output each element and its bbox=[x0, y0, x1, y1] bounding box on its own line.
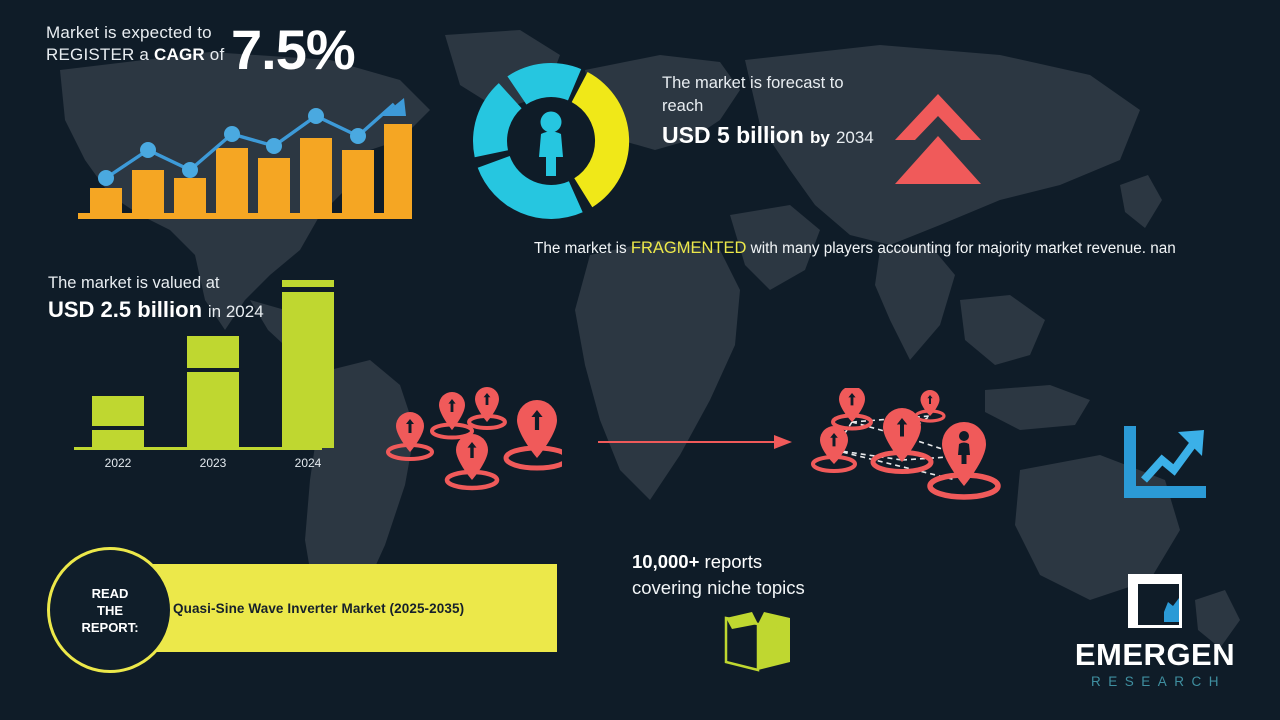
bar-2022 bbox=[92, 396, 144, 448]
brand-logo: EMERGEN RESEARCH bbox=[1060, 572, 1250, 691]
bar-2024 bbox=[282, 280, 334, 448]
forecast-by-label: by bbox=[810, 128, 830, 147]
logo-name: EMERGEN bbox=[1060, 637, 1250, 673]
bar-label-2024: 2024 bbox=[278, 456, 338, 470]
bar-label-2022: 2022 bbox=[88, 456, 148, 470]
read-report-line2: THE bbox=[97, 602, 123, 619]
fragmented-text: The market is FRAGMENTED with many playe… bbox=[534, 237, 1206, 260]
cagr-lead-line2-a: REGISTER a bbox=[46, 45, 154, 64]
cagr-value: 7.5% bbox=[231, 19, 355, 81]
person-icon bbox=[539, 112, 563, 177]
report-title: Quasi-Sine Wave Inverter Market (2025-20… bbox=[173, 601, 464, 616]
reports-count-suffix: reports bbox=[699, 551, 762, 572]
forecast-amount: USD 5 billion bbox=[662, 122, 804, 148]
cagr-keyword: CAGR bbox=[154, 45, 205, 64]
bar-label-2023: 2023 bbox=[183, 456, 243, 470]
fragmented-block: The market is FRAGMENTED with many playe… bbox=[534, 237, 1206, 260]
bar-2023 bbox=[187, 336, 239, 448]
donut-segment-4 bbox=[507, 63, 581, 104]
forecast-lead-line1: The market is forecast to bbox=[662, 74, 844, 92]
fragmented-prefix: The market is bbox=[534, 240, 631, 257]
logo-subtitle: RESEARCH bbox=[1060, 673, 1250, 691]
donut-segment-1 bbox=[572, 72, 629, 207]
reports-count-line2: covering niche topics bbox=[632, 575, 932, 601]
market-share-donut bbox=[462, 52, 640, 230]
line-chart-growth-icon bbox=[1118, 424, 1210, 504]
logo-mark-icon bbox=[1124, 572, 1186, 634]
reports-count-number: 10,000+ bbox=[632, 551, 699, 572]
read-report-line3: REPORT: bbox=[81, 619, 138, 636]
cagr-block: Market is expected to REGISTER a CAGR of… bbox=[46, 22, 466, 66]
forecast-lead-line2: reach bbox=[662, 97, 703, 115]
cagr-lead-text: Market is expected to REGISTER a CAGR of bbox=[46, 22, 236, 66]
bar-split-2024 bbox=[282, 287, 334, 292]
fragmented-highlight: FRAGMENTED bbox=[631, 239, 747, 257]
bar-split-2022 bbox=[92, 426, 144, 430]
bar-split-2023 bbox=[187, 368, 239, 372]
reports-count-block: 10,000+ reports covering niche topics bbox=[632, 549, 932, 601]
right-arrow-icon bbox=[596, 431, 796, 453]
read-report-line1: READ bbox=[92, 585, 129, 602]
cagr-lead-line1: Market is expected to bbox=[46, 23, 212, 42]
double-up-arrow-icon bbox=[893, 92, 983, 192]
open-book-icon bbox=[722, 610, 794, 672]
connected-map-pin-network-icon bbox=[804, 388, 1014, 502]
map-pin-cluster-icon bbox=[382, 386, 562, 496]
infographic-canvas: Market is expected to REGISTER a CAGR of… bbox=[0, 0, 1280, 720]
forecast-year: 2034 bbox=[836, 128, 874, 147]
fragmented-suffix: with many players accounting for majorit… bbox=[746, 240, 1175, 257]
market-value-bar-chart: 2022 2023 2024 bbox=[74, 295, 334, 470]
cagr-lead-line2-c: of bbox=[205, 45, 225, 64]
donut-segment-3 bbox=[473, 83, 522, 157]
growth-bar-line-chart bbox=[72, 86, 412, 222]
reports-count-line1: 10,000+ reports bbox=[632, 549, 932, 575]
donut-segment-2 bbox=[478, 156, 583, 219]
read-report-button[interactable]: READ THE REPORT: bbox=[47, 547, 173, 673]
